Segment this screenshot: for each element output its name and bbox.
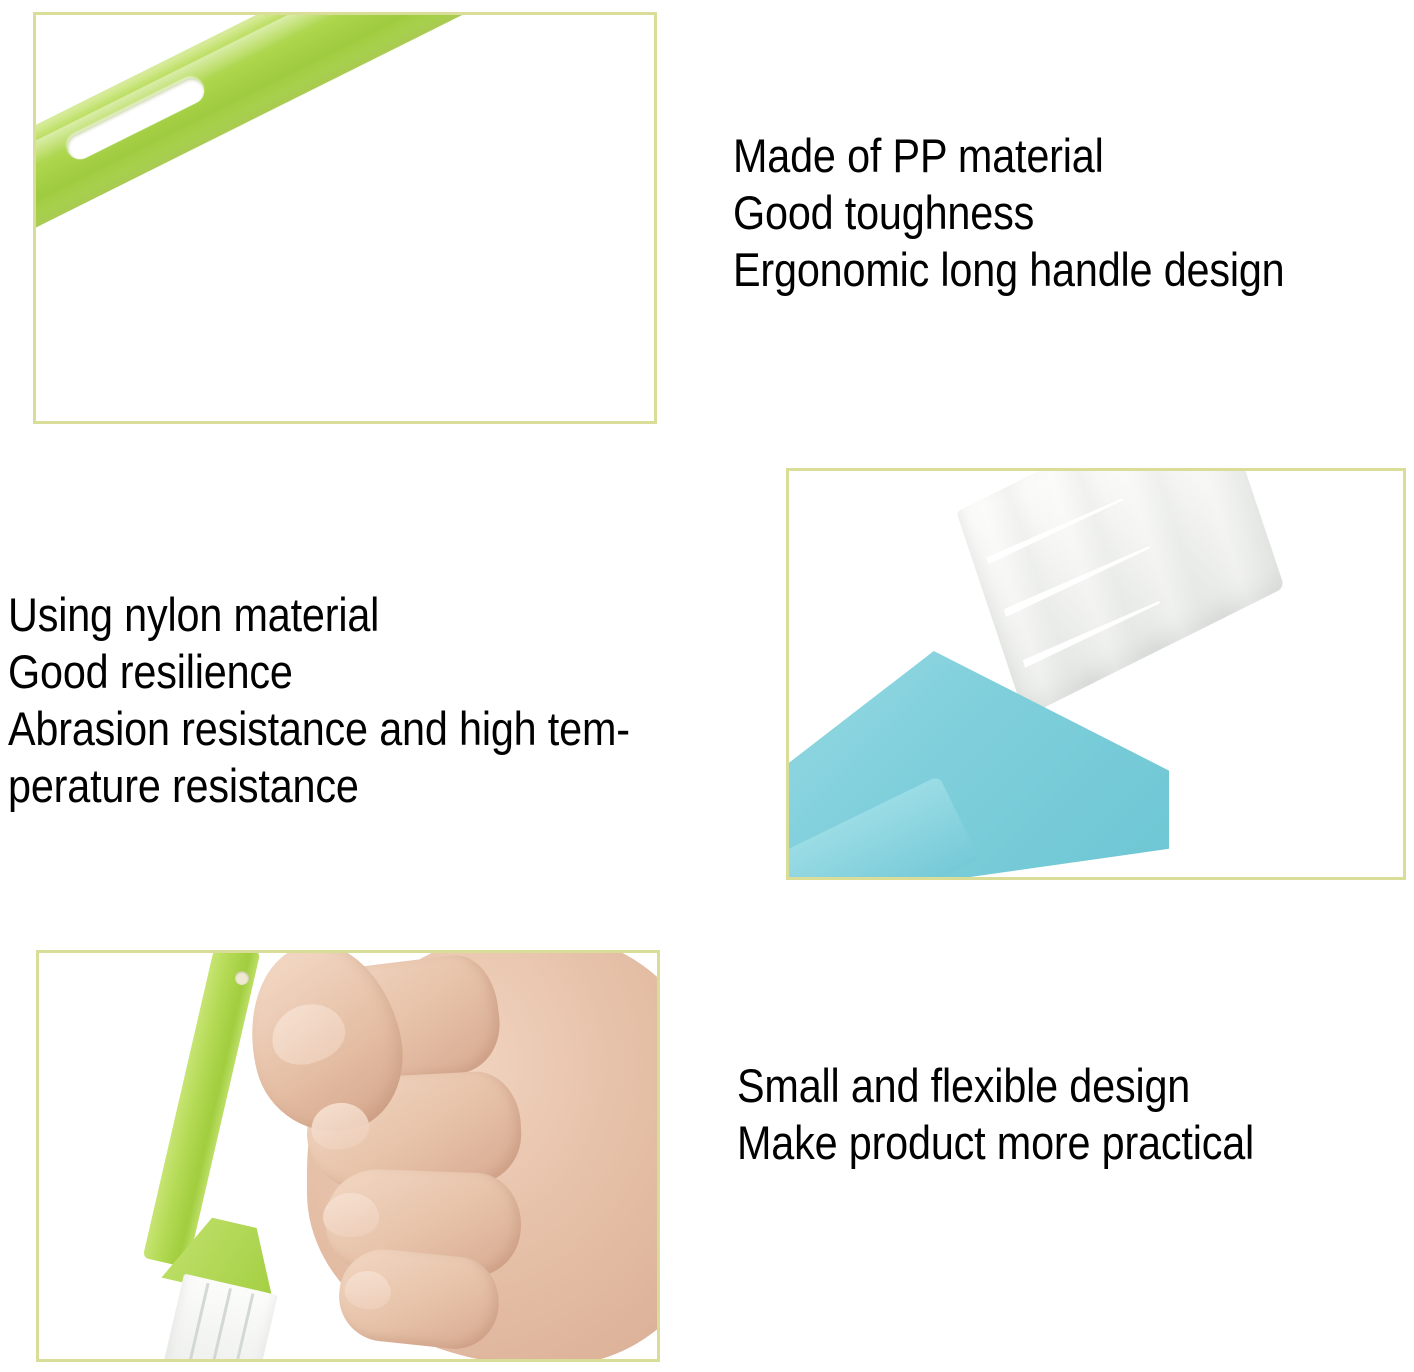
ring-finger-nail <box>323 1193 379 1237</box>
feature-text-pp-material: Made of PP material Good toughness Ergon… <box>733 127 1285 298</box>
feature-line: Made of PP material <box>733 127 1285 184</box>
photo-panel-brush-head <box>786 468 1406 880</box>
feature-line: Good resilience <box>8 643 630 700</box>
brush-head-photo <box>789 471 1403 877</box>
feature-line: Abrasion resistance and high tem- <box>8 700 630 757</box>
bristle-separator <box>233 1293 255 1362</box>
feature-text-nylon-material: Using nylon material Good resilience Abr… <box>8 586 630 814</box>
bristle-separator <box>188 1283 210 1362</box>
green-brush-shaft <box>143 950 261 1268</box>
feature-line: Ergonomic long handle design <box>733 241 1285 298</box>
handle-photo: × × × <box>36 15 654 421</box>
feature-line: Make product more practical <box>737 1114 1254 1171</box>
feature-text-small-flexible: Small and flexible design Make product m… <box>737 1057 1254 1171</box>
feature-line: perature resistance <box>8 757 630 814</box>
photo-panel-handle: × × × <box>33 12 657 424</box>
hanging-slot <box>63 74 209 164</box>
green-handle-bar: × × × <box>33 12 657 252</box>
bristle-sheen <box>956 468 1284 717</box>
nylon-bristles <box>956 468 1284 717</box>
feature-line: Good toughness <box>733 184 1285 241</box>
feature-line: Using nylon material <box>8 586 630 643</box>
hand-photo <box>39 953 657 1359</box>
feature-line: Small and flexible design <box>737 1057 1254 1114</box>
bristle-separator <box>210 1288 232 1362</box>
photo-panel-hand-holding-brush <box>36 950 660 1362</box>
